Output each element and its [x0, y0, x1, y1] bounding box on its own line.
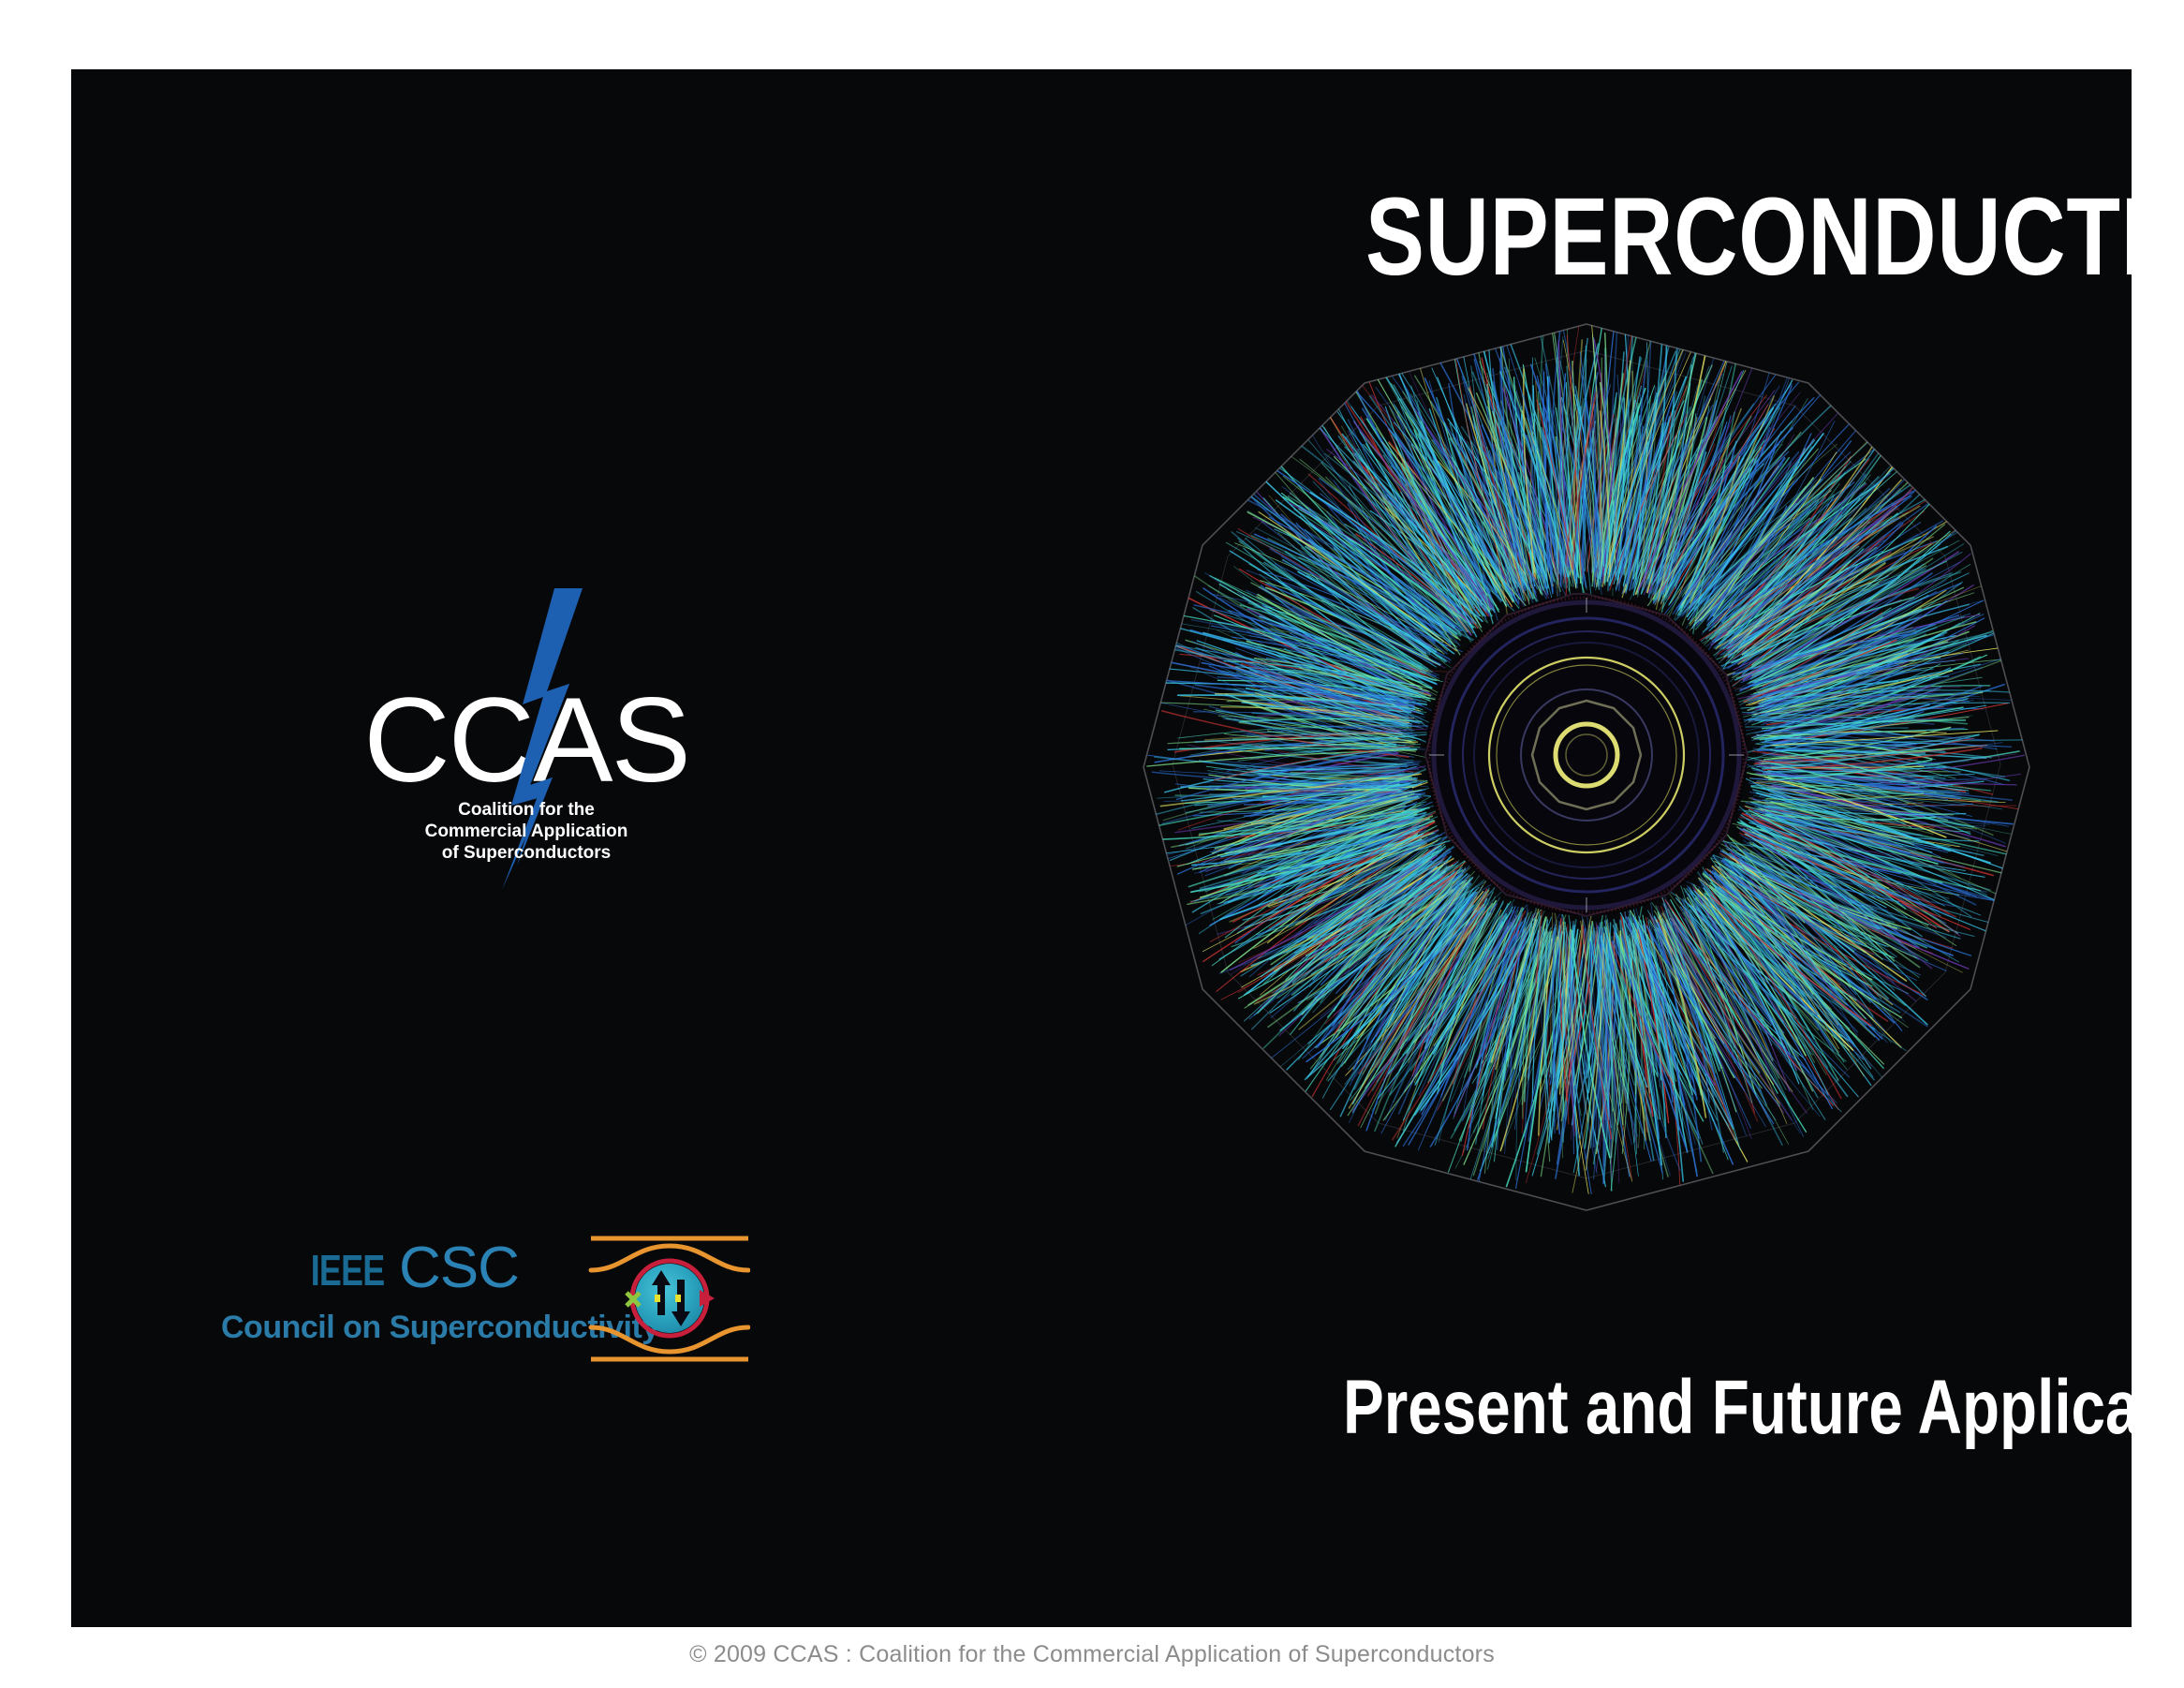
ccas-tagline-line1: Coalition for the	[458, 800, 595, 820]
detector-core	[1425, 594, 1748, 916]
copyright-text: © 2009 CCAS : Coalition for the Commerci…	[689, 1641, 1495, 1667]
ieee-text: IEEE	[311, 1247, 385, 1295]
ccas-tagline: Coalition for the Commercial Application…	[425, 800, 628, 863]
ccas-tagline-line3: of Superconductors	[442, 843, 612, 863]
ccas-logo: CCAS Coalition for the Commercial Applic…	[302, 585, 751, 894]
cover-page: SUPERCONDUCTIVITY Present and Future App…	[0, 0, 2184, 1688]
particle-collision-event-display-image	[1099, 268, 2073, 1242]
csc-text: CSC	[399, 1236, 519, 1300]
csc-wordmark: CSC	[399, 1236, 519, 1300]
ieee-csc-logo: IEEE CSC Council on Superconductivity	[216, 1231, 750, 1367]
ieee-wordmark: IEEE	[311, 1247, 385, 1295]
cover-panel: SUPERCONDUCTIVITY Present and Future App…	[71, 69, 2132, 1627]
footer: © 2009 CCAS : Coalition for the Commerci…	[0, 1641, 2184, 1668]
page-title: SUPERCONDUCTIVITY	[1365, 182, 2122, 292]
page-subtitle: Present and Future Applications	[1343, 1370, 2122, 1446]
subtitle-block: Present and Future Applications	[1148, 1370, 2122, 1446]
ccas-tagline-line2: Commercial Application	[425, 822, 628, 841]
title-block: SUPERCONDUCTIVITY	[1176, 182, 2122, 292]
